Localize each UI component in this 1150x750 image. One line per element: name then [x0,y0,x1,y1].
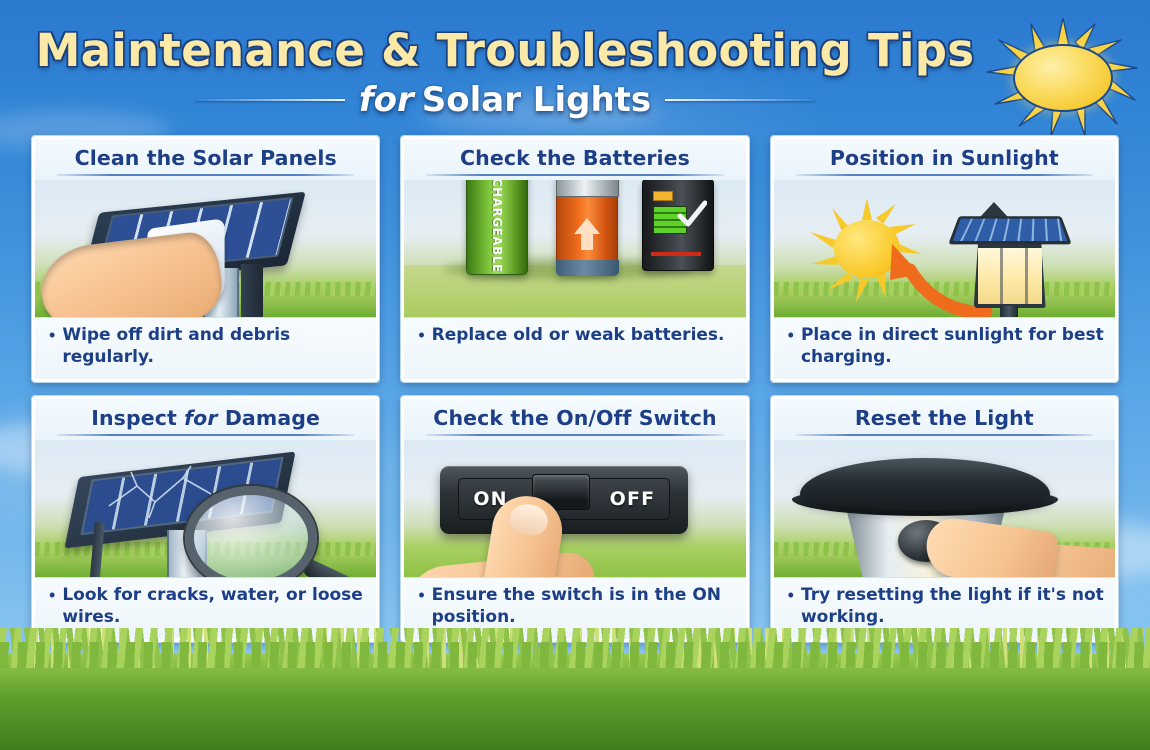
card-header: Clean the Solar Panels [35,139,376,180]
card-bullet-text: Look for cracks, water, or loose wires. [62,585,366,629]
page-subtitle: forSolar Lights [359,80,651,120]
bullet-icon: • [418,325,424,345]
sun-core [1013,44,1113,112]
title-underline [796,174,1093,176]
illustration-sun-arrow-garden-lamp [774,180,1115,317]
subtitle-for: for [359,80,422,120]
header: Maintenance & Troubleshooting Tips forSo… [0,8,1150,128]
lamp-cap [800,458,1050,510]
battery-green-rechargeable: RECHARGEABLE [466,180,528,275]
card-header: Inspect for Damage [35,399,376,440]
card-header: Reset the Light [774,399,1115,440]
bullet-icon: • [49,585,55,605]
battery-label: RECHARGEABLE [490,180,504,273]
card-bullet-text: Replace old or weak batteries. [432,325,725,347]
card-title-italic: for [184,406,217,430]
card-footer: • Wipe off dirt and debris regularly. [35,317,376,379]
title-underline [57,174,354,176]
page-title: Maintenance & Troubleshooting Tips [0,24,1010,77]
card-bullet-text: Try resetting the light if it's not work… [801,585,1105,629]
card-title: Reset the Light [784,406,1105,430]
card-title-pre: Inspect [91,406,184,430]
lamp-solar-panel [948,216,1072,244]
card-header: Position in Sunlight [774,139,1115,180]
card-title: Position in Sunlight [784,146,1105,170]
tip-card-check-the-on-off-switch[interactable]: Check the On/Off Switch ON OFF • Ensure … [401,396,748,642]
card-header: Check the Batteries [404,139,745,180]
infographic-canvas: Maintenance & Troubleshooting Tips forSo… [0,0,1150,750]
illustration-thumb-pressing-reset-button [774,440,1115,577]
card-title-post: Damage [218,406,320,430]
sun-icon [985,18,1140,136]
tip-card-position-in-sunlight[interactable]: Position in Sunlight [771,136,1118,382]
card-title: Clean the Solar Panels [45,146,366,170]
battery-black-charge-gauge [642,180,714,271]
illustration-magnifier-on-cracked-panel [35,440,376,577]
lamp-post-shadow [241,264,263,317]
tip-card-clean-the-solar-panels[interactable]: Clean the Solar Panels • Wipe off dirt a… [32,136,379,382]
card-bullet-text: Ensure the switch is in the ON position. [432,585,736,629]
hand [36,229,225,317]
title-underline [57,434,354,436]
thumb [922,515,1059,577]
title-underline [426,174,723,176]
grass-footer [0,654,1150,750]
card-bullet-text: Wipe off dirt and debris regularly. [62,325,366,369]
check-icon [677,200,707,230]
subtitle-rule-right [665,99,815,101]
card-footer: • Replace old or weak batteries. [404,317,745,379]
tip-card-check-the-batteries[interactable]: Check the Batteries RECHARGEABLE [401,136,748,382]
subtitle-rest: Solar Lights [422,80,651,120]
illustration-rocker-switch-with-finger: ON OFF [404,440,745,577]
illustration-three-batteries: RECHARGEABLE [404,180,745,317]
tips-grid: Clean the Solar Panels • Wipe off dirt a… [32,136,1118,642]
bullet-icon: • [788,325,794,345]
card-title: Check the On/Off Switch [414,406,735,430]
subtitle-rule-left [195,99,345,101]
battery-top-metal [556,180,619,197]
up-arrow-icon [574,218,600,234]
bullet-icon: • [418,585,424,605]
card-title: Inspect for Damage [45,406,366,430]
card-bullet-text: Place in direct sunlight for best chargi… [801,325,1105,369]
title-underline [426,434,723,436]
switch-label-off: OFF [610,488,656,510]
card-footer: • Place in direct sunlight for best char… [774,317,1115,379]
lamp-glass-housing [974,244,1046,308]
card-header: Check the On/Off Switch [404,399,745,440]
tip-card-reset-the-light[interactable]: Reset the Light • Try resetting the ligh… [771,396,1118,642]
title-underline [796,434,1093,436]
subtitle-row: forSolar Lights [0,80,1010,120]
bullet-icon: • [788,585,794,605]
battery-base [556,260,619,276]
illustration-hand-wiping-solar-panel [35,180,376,317]
magnifying-glass-icon [185,486,317,577]
battery-orange [556,180,618,275]
bullet-icon: • [49,325,55,345]
lamp-stake [1000,306,1018,317]
tip-card-inspect-for-damage[interactable]: Inspect for Damage [32,396,379,642]
card-title: Check the Batteries [414,146,735,170]
battery-indicator-amber [653,191,673,201]
battery-low-line [651,252,701,256]
